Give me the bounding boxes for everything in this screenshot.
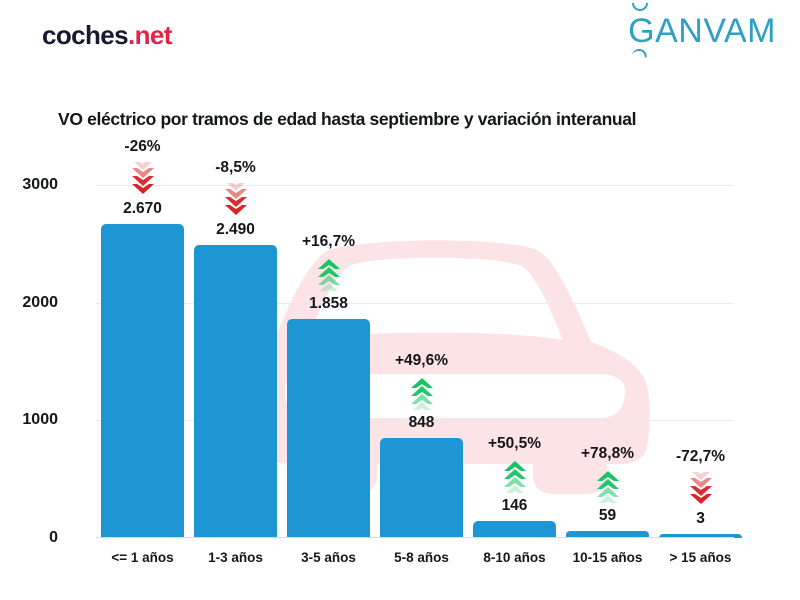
trend-up-arrow-icon [595, 469, 621, 499]
bar[interactable] [101, 224, 184, 538]
breve-accent-icon [632, 3, 648, 11]
trend-up-arrow-icon [502, 459, 528, 489]
trend-down-arrow-icon [688, 472, 714, 502]
bar[interactable] [287, 319, 370, 538]
ganvam-logo-gmark: G [628, 14, 655, 48]
ganvam-logo: G ANVAM [628, 14, 776, 48]
y-axis-tick-label: 2000 [0, 294, 58, 312]
y-axis-tick-label: 1000 [0, 411, 58, 429]
axis-baseline [96, 537, 734, 538]
bar-value-label: 3 [646, 510, 756, 528]
bar[interactable] [194, 245, 277, 538]
y-axis-tick-label: 3000 [0, 176, 58, 194]
variation-percentage-label: -8,5% [176, 159, 296, 177]
bar-value-label: 848 [367, 414, 477, 432]
bar[interactable] [380, 438, 463, 538]
ganvam-logo-rest: ANVAM [655, 14, 776, 48]
x-axis-category-label: 1-3 años [183, 550, 288, 565]
x-axis-category-label: 10-15 años [555, 550, 660, 565]
ganvam-logo-g-letter: G [628, 12, 655, 50]
x-axis-category-label: <= 1 años [90, 550, 195, 565]
chart-page: coches.net G ANVAM VO eléctrico por tram… [0, 0, 800, 600]
trend-down-arrow-icon [223, 183, 249, 213]
coches-logo-text: coches [42, 20, 128, 50]
gridline [96, 185, 734, 186]
trend-up-arrow-icon [409, 376, 435, 406]
variation-percentage-label: +49,6% [362, 352, 482, 370]
bar-value-label: 1.858 [274, 295, 384, 313]
x-axis-category-label: > 15 años [648, 550, 753, 565]
gridline [96, 303, 734, 304]
variation-percentage-label: -26% [83, 138, 203, 156]
bar[interactable] [473, 521, 556, 538]
trend-up-arrow-icon [316, 257, 342, 287]
coches-net-logo: coches.net [42, 20, 172, 51]
variation-percentage-label: -72,7% [641, 448, 761, 466]
x-axis-category-label: 8-10 años [462, 550, 567, 565]
chart-title: VO eléctrico por tramos de edad hasta se… [58, 109, 636, 130]
bar-value-label: 2.670 [88, 200, 198, 218]
trend-down-arrow-icon [130, 162, 156, 192]
x-axis-category-label: 5-8 años [369, 550, 474, 565]
y-axis-tick-label: 0 [0, 529, 58, 547]
coches-logo-suffix: .net [128, 20, 172, 50]
variation-percentage-label: +16,7% [269, 233, 389, 251]
x-axis-category-label: 3-5 años [276, 550, 381, 565]
